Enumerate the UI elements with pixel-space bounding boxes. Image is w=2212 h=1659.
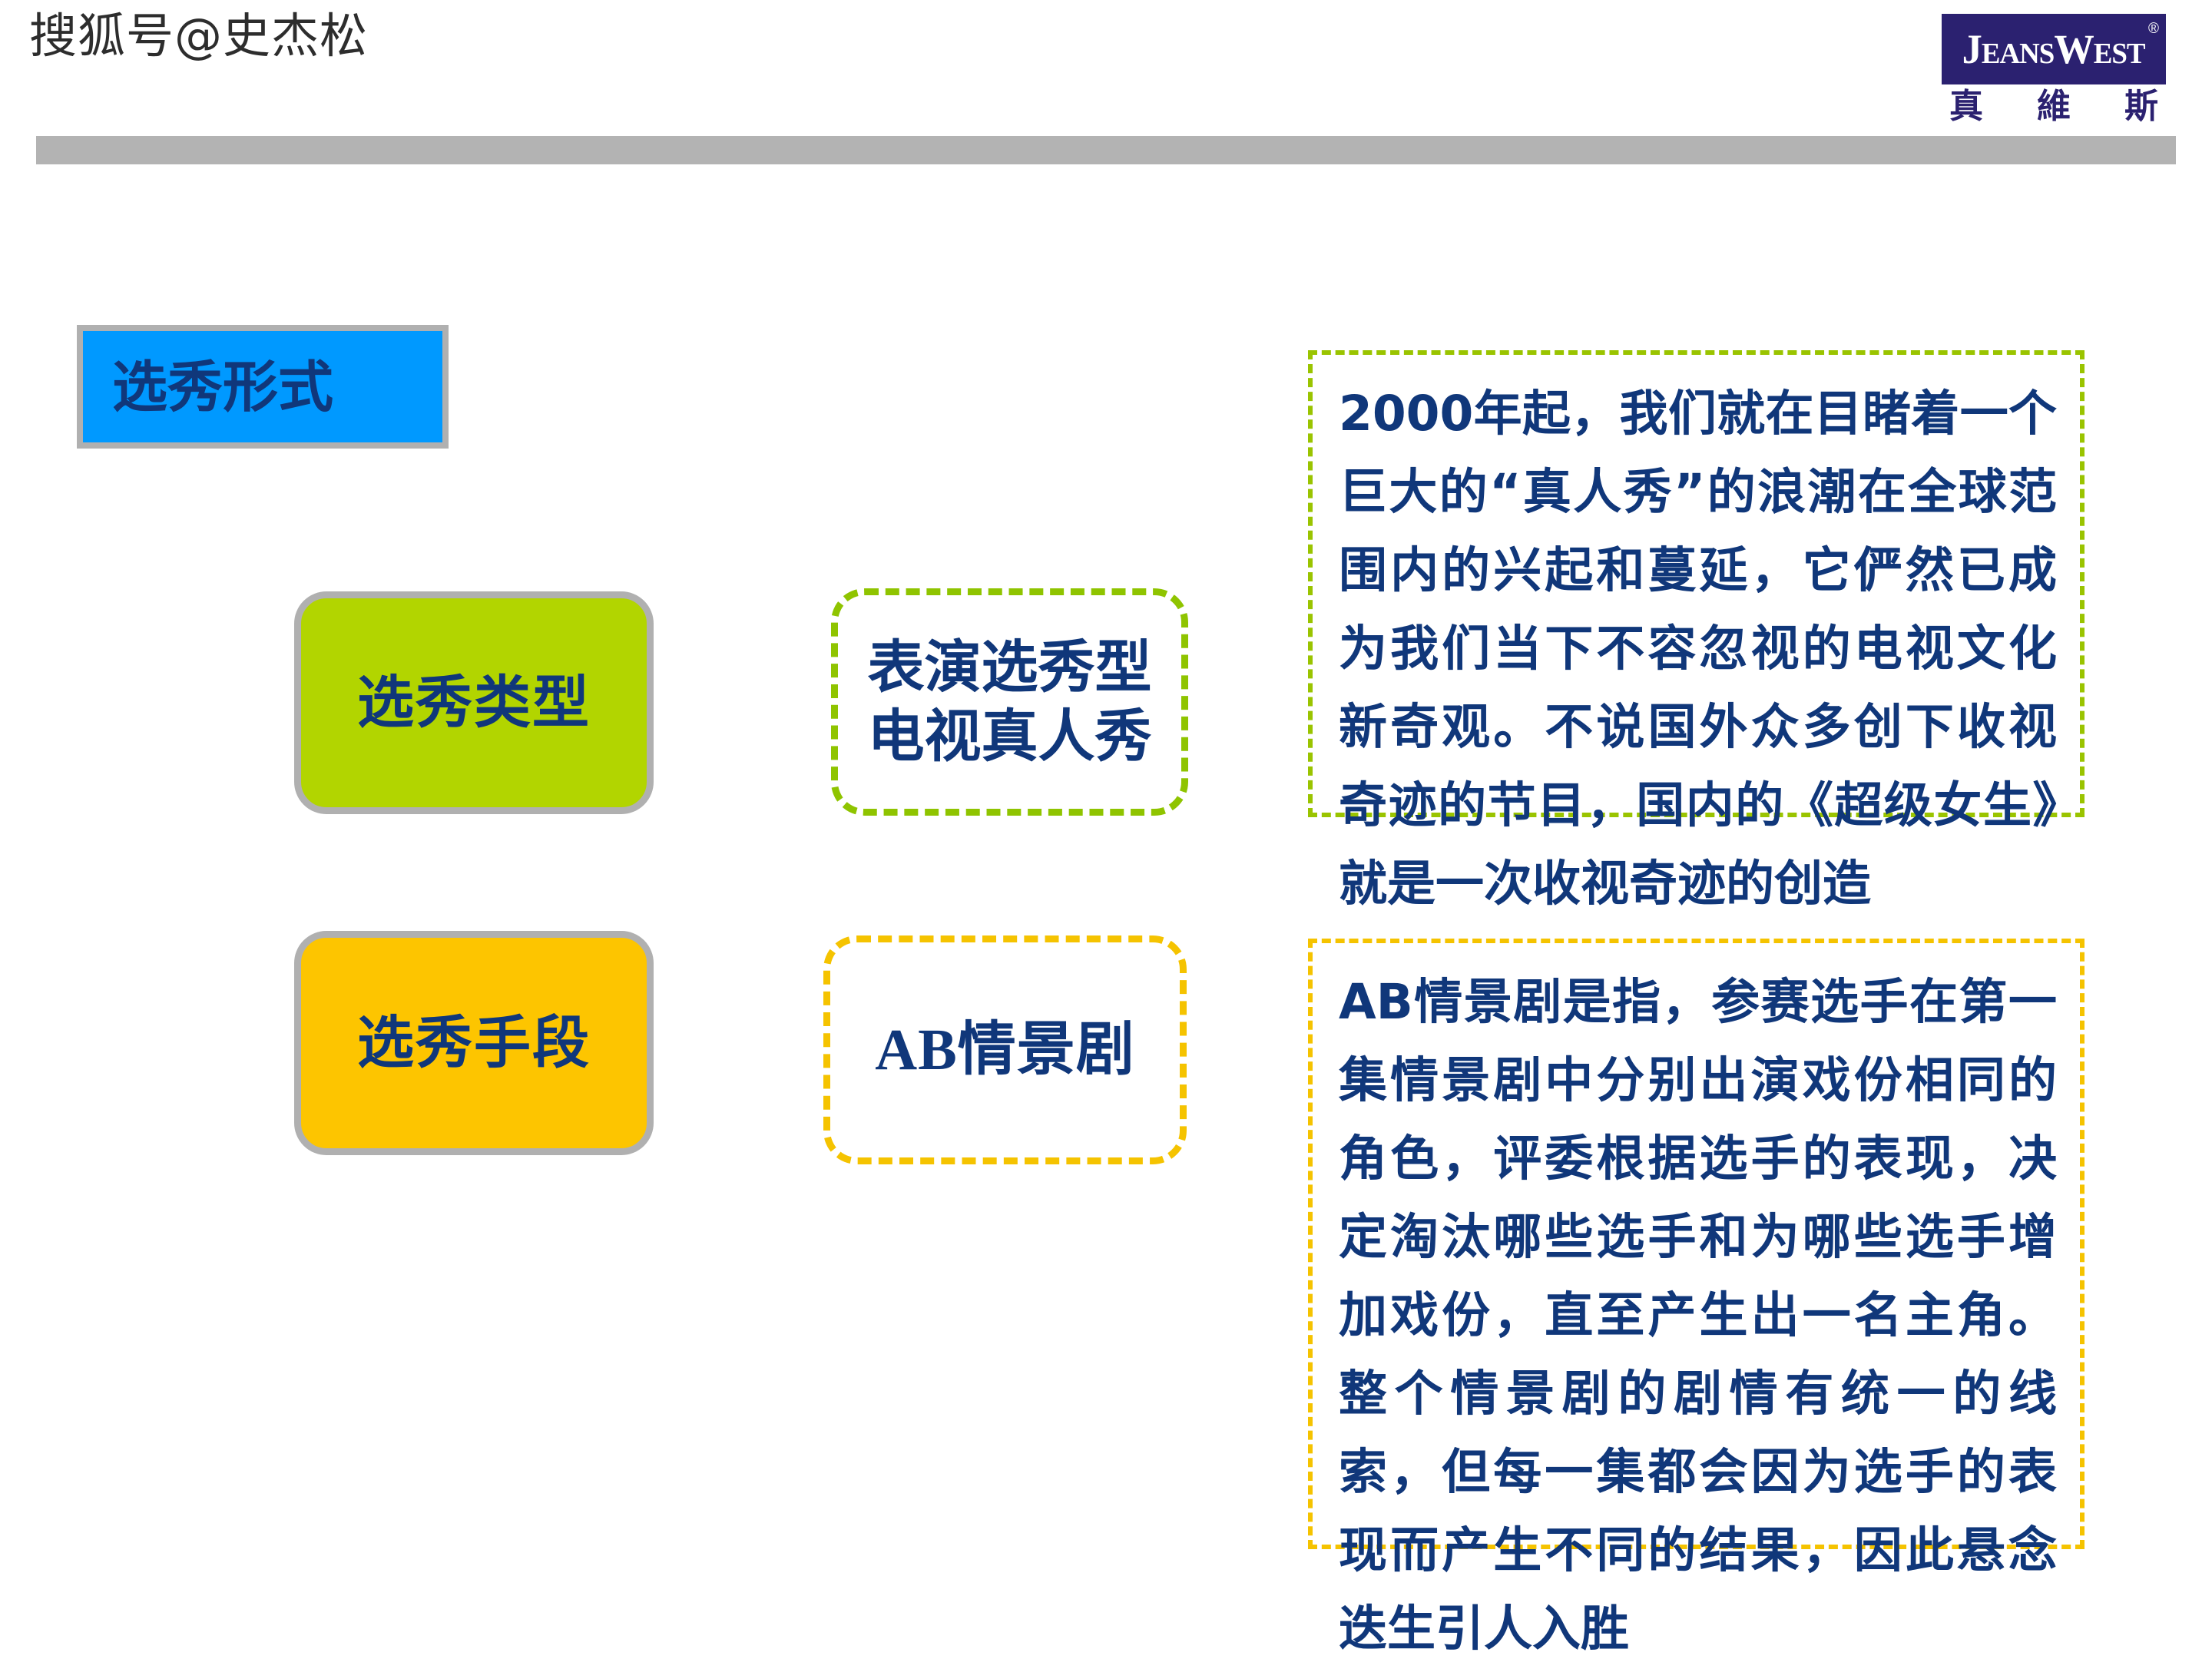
registered-trademark-icon: ® (2148, 22, 2159, 36)
tag-line-ab-sitcom: AB情景剧 (875, 1015, 1135, 1086)
section-title-label: 选秀形式 (83, 359, 333, 415)
brand-char-2: 維 (2037, 89, 2071, 124)
brand-char-1: 真 (1949, 89, 1983, 124)
header-divider-bar (36, 136, 2176, 164)
section-title-box: 选秀形式 (77, 325, 449, 449)
slide-canvas: 搜狐号@史杰松 JeansWest ® 真 維 斯 选秀形式 选秀类型 表演选秀… (0, 0, 2212, 1659)
brand-logo: JeansWest ® 真 維 斯 (1942, 14, 2166, 124)
watermark-text: 搜狐号@史杰松 (29, 12, 368, 60)
category-label-method: 选秀手段 (357, 1015, 591, 1071)
description-panel-reality-show: 2000年起，我们就在目睹着一个巨大的“真人秀”的浪潮在全球范围内的兴起和蔓延，… (1308, 350, 2085, 817)
brand-wordmark: JeansWest (1962, 28, 2145, 70)
description-panel-ab-sitcom: AB情景剧是指，参赛选手在第一集情景剧中分别出演戏份相同的角色，评委根据选手的表… (1308, 939, 2085, 1549)
category-label-type: 选秀类型 (357, 674, 591, 731)
tag-box-performance-show: 表演选秀型 电视真人秀 (831, 588, 1188, 816)
brand-char-3: 斯 (2124, 89, 2158, 124)
category-box-type: 选秀类型 (294, 591, 654, 814)
brand-logo-plate: JeansWest ® (1942, 14, 2166, 84)
description-text-ab-sitcom: AB情景剧是指，参赛选手在第一集情景剧中分别出演戏份相同的角色，评委根据选手的表… (1339, 963, 2057, 1659)
tag-box-ab-sitcom: AB情景剧 (823, 935, 1187, 1164)
description-text-reality-show: 2000年起，我们就在目睹着一个巨大的“真人秀”的浪潮在全球范围内的兴起和蔓延，… (1339, 375, 2057, 923)
tag-line-1: 表演选秀型 (868, 633, 1152, 702)
brand-chinese-name: 真 維 斯 (1942, 89, 2166, 124)
category-box-method: 选秀手段 (294, 931, 654, 1155)
tag-line-2: 电视真人秀 (868, 702, 1152, 771)
